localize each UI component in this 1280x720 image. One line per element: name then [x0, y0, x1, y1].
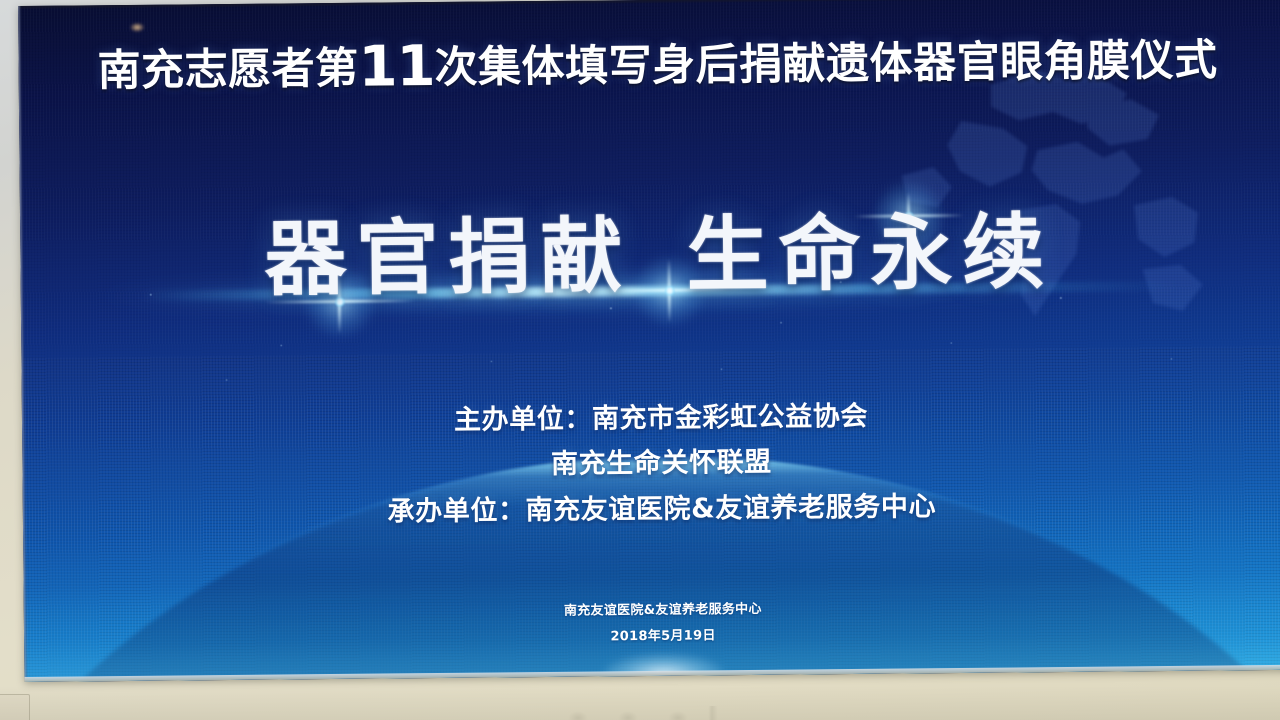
headline-phrase-right: 生命永续 [686, 205, 1055, 304]
slide-title-suffix: 次集体填写身后捐献遗体器官眼角膜仪式 [434, 35, 1217, 93]
wall-marks [560, 706, 750, 720]
world-map-decoration [841, 52, 1274, 356]
organizer-block: 主办单位：南充市金彩虹公益协会 南充生命关怀联盟 承办单位：南充友谊医院&友谊养… [22, 390, 1280, 538]
slide-title: 南充志愿者第11次集体填写身后捐献遗体器官眼角膜仪式 [18, 30, 1280, 101]
presentation-slide: 南充志愿者第11次集体填写身后捐献遗体器官眼角膜仪式 器官捐献生命永续 主办单位… [18, 0, 1280, 682]
headline-phrase-left: 器官捐献 [264, 209, 633, 308]
projection-screen-panel: 南充志愿者第11次集体填写身后捐献遗体器官眼角膜仪式 器官捐献生命永续 主办单位… [18, 0, 1280, 682]
photograph-of-projection-screen: 南充志愿者第11次集体填写身后捐献遗体器官眼角膜仪式 器官捐献生命永续 主办单位… [0, 0, 1280, 720]
panel-bezel-left [18, 6, 27, 682]
slide-title-number: 11 [358, 34, 435, 100]
footer-block: 南充友谊医院&友谊养老服务中心 2018年5月19日 [24, 592, 1280, 656]
panel-pixel-texture [18, 0, 1280, 682]
bottom-hotspot [603, 653, 723, 682]
slide-headline: 器官捐献生命永续 [20, 208, 1280, 306]
panel-bezel-top [18, 0, 1280, 9]
panel-bezel-bottom [24, 665, 1280, 682]
slide-title-prefix: 南充志愿者第 [97, 44, 358, 97]
wall-object [0, 694, 30, 720]
headline-spacer [633, 284, 687, 285]
camera-lens-artifact [130, 23, 144, 32]
